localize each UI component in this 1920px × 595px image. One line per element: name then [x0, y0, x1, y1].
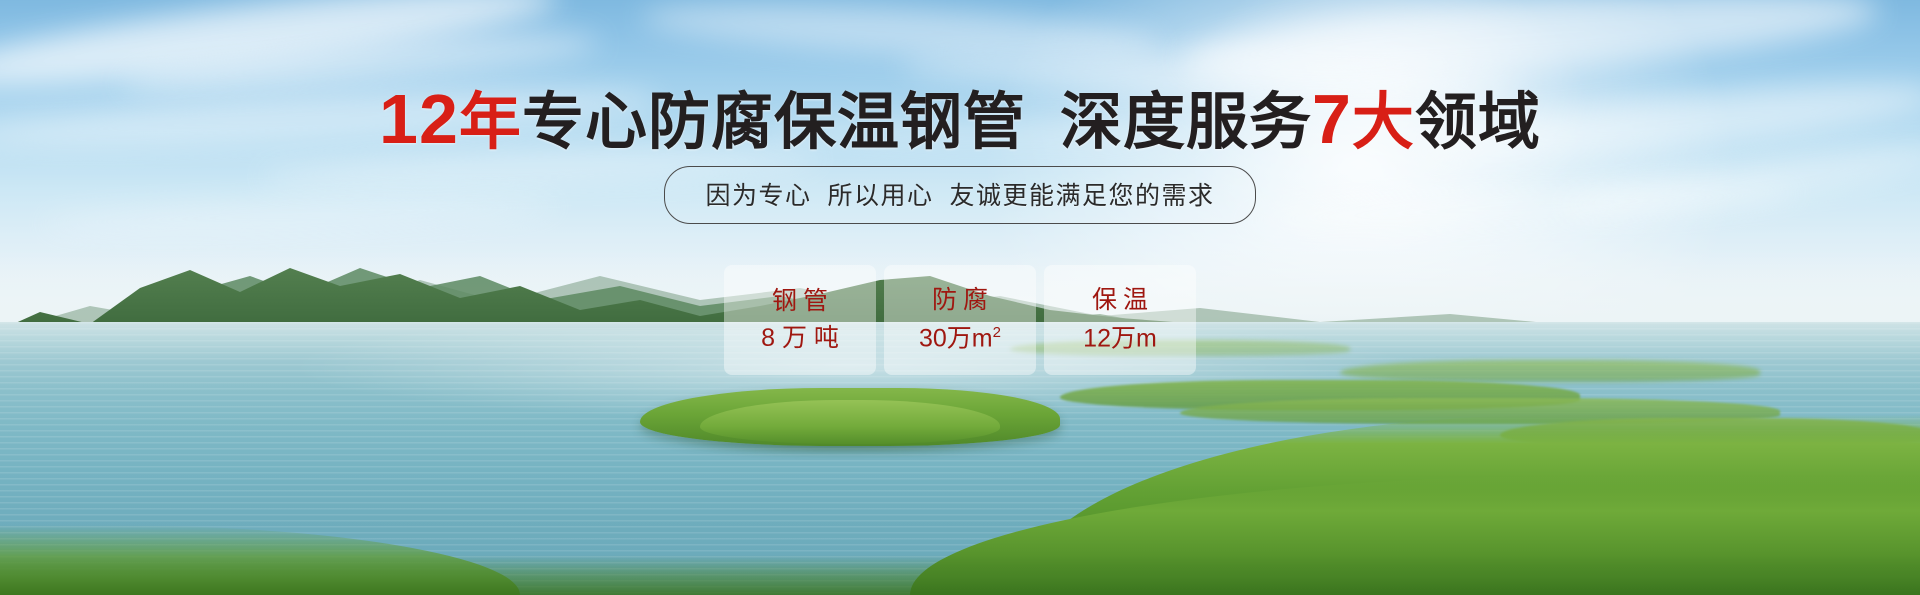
stat-value-text: 30万m	[919, 325, 993, 353]
stat-label: 防腐	[926, 288, 994, 313]
stats-row: 钢管 8 万 吨 防腐 30万m2 保温 12万m	[0, 265, 1920, 375]
headline-main: 专心防腐保温钢管	[522, 88, 1026, 157]
stat-value-superscript: 2	[993, 324, 1001, 341]
headline-service: 深度服务	[1060, 88, 1312, 157]
stat-value: 12万m	[1083, 325, 1157, 351]
stat-label: 钢管	[766, 289, 834, 314]
subtitle-phrase-3: 友诚更能满足您的需求	[950, 182, 1215, 210]
stat-value: 30万m2	[919, 325, 1001, 351]
headline-fields-unit: 大	[1352, 88, 1415, 157]
headline-years-number: 12	[379, 80, 459, 158]
stat-value-text: 8 万 吨	[761, 324, 839, 352]
headline: 12年专心防腐保温钢管深度服务7大领域	[0, 84, 1920, 154]
subtitle-phrase-2: 所以用心	[827, 182, 933, 210]
stat-card-anticorrosion: 防腐 30万m2	[884, 265, 1036, 375]
stat-card-steel-pipe: 钢管 8 万 吨	[724, 265, 876, 375]
headline-fields-word: 领域	[1415, 88, 1541, 157]
stat-label: 保温	[1086, 288, 1154, 313]
stat-value: 8 万 吨	[761, 326, 839, 351]
subtitle-container: 因为专心所以用心友诚更能满足您的需求	[0, 166, 1920, 224]
stat-card-insulation: 保温 12万m	[1044, 265, 1196, 375]
headline-fields-number: 7	[1312, 80, 1352, 158]
headline-years-unit: 年	[459, 88, 522, 157]
hero-banner: 12年专心防腐保温钢管深度服务7大领域 因为专心所以用心友诚更能满足您的需求 钢…	[0, 0, 1920, 595]
subtitle-phrase-1: 因为专心	[705, 182, 811, 210]
stat-value-text: 12万m	[1083, 325, 1157, 353]
subtitle-pill: 因为专心所以用心友诚更能满足您的需求	[664, 166, 1255, 224]
banner-content: 12年专心防腐保温钢管深度服务7大领域 因为专心所以用心友诚更能满足您的需求 钢…	[0, 0, 1920, 595]
